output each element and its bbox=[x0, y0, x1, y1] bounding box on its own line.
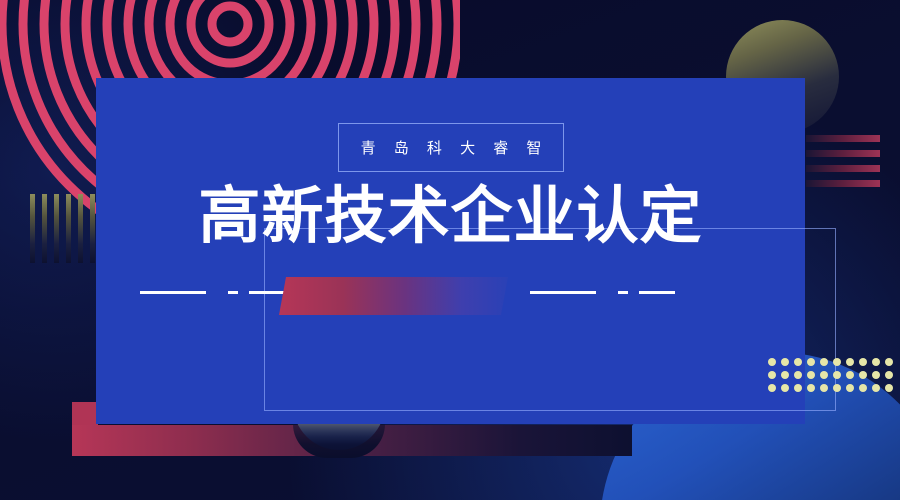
olive-bar bbox=[66, 194, 71, 263]
crimson-bar bbox=[806, 165, 880, 172]
grid-dot bbox=[794, 371, 802, 379]
dash bbox=[618, 291, 628, 294]
olive-bar bbox=[54, 194, 59, 263]
grid-dot bbox=[846, 371, 854, 379]
olive-bar bbox=[78, 194, 83, 263]
grid-dot bbox=[820, 358, 828, 366]
grid-dot bbox=[820, 384, 828, 392]
ornament-dashes-left bbox=[140, 291, 285, 294]
olive-bar bbox=[90, 194, 95, 263]
grid-dot bbox=[768, 358, 776, 366]
crimson-bar bbox=[806, 180, 880, 187]
grid-dot bbox=[872, 371, 880, 379]
grid-dot bbox=[820, 371, 828, 379]
olive-gradient-bars bbox=[30, 194, 95, 263]
dash bbox=[140, 291, 206, 294]
subtitle-text: 青 岛 科 大 睿 智 bbox=[354, 137, 549, 158]
dash bbox=[530, 291, 596, 294]
dash bbox=[639, 291, 675, 294]
grid-dot bbox=[859, 384, 867, 392]
grid-dot bbox=[807, 371, 815, 379]
olive-bar bbox=[42, 194, 47, 263]
panel-inner-outline bbox=[264, 228, 836, 411]
crimson-gradient-bars bbox=[806, 135, 880, 195]
grid-dot bbox=[833, 384, 841, 392]
grid-dot bbox=[781, 371, 789, 379]
grid-dot bbox=[885, 371, 893, 379]
grid-dot bbox=[794, 358, 802, 366]
promo-banner: 青 岛 科 大 睿 智 高新技术企业认定 bbox=[0, 0, 900, 500]
grid-dot bbox=[794, 384, 802, 392]
grid-dot bbox=[807, 384, 815, 392]
grid-dot bbox=[872, 358, 880, 366]
grid-dot bbox=[846, 384, 854, 392]
grid-dot bbox=[781, 358, 789, 366]
crimson-bar bbox=[806, 135, 880, 142]
grid-dot bbox=[872, 384, 880, 392]
grid-dot bbox=[885, 358, 893, 366]
grid-dot bbox=[807, 358, 815, 366]
crimson-bar bbox=[806, 150, 880, 157]
dash bbox=[228, 291, 238, 294]
ornament-dashes-right bbox=[530, 291, 675, 294]
grid-dot bbox=[781, 384, 789, 392]
page-title: 高新技术企业认定 bbox=[96, 181, 805, 253]
grid-dot bbox=[885, 384, 893, 392]
grid-dot bbox=[768, 384, 776, 392]
gradient-parallelogram-bar bbox=[279, 277, 508, 315]
grid-dot bbox=[768, 371, 776, 379]
subtitle-box: 青 岛 科 大 睿 智 bbox=[338, 123, 564, 172]
grid-dot bbox=[859, 358, 867, 366]
grid-dot bbox=[833, 358, 841, 366]
olive-bar bbox=[30, 194, 35, 263]
dash bbox=[249, 291, 285, 294]
grid-dot bbox=[833, 371, 841, 379]
dot-grid bbox=[768, 358, 898, 397]
grid-dot bbox=[859, 371, 867, 379]
grid-dot bbox=[846, 358, 854, 366]
